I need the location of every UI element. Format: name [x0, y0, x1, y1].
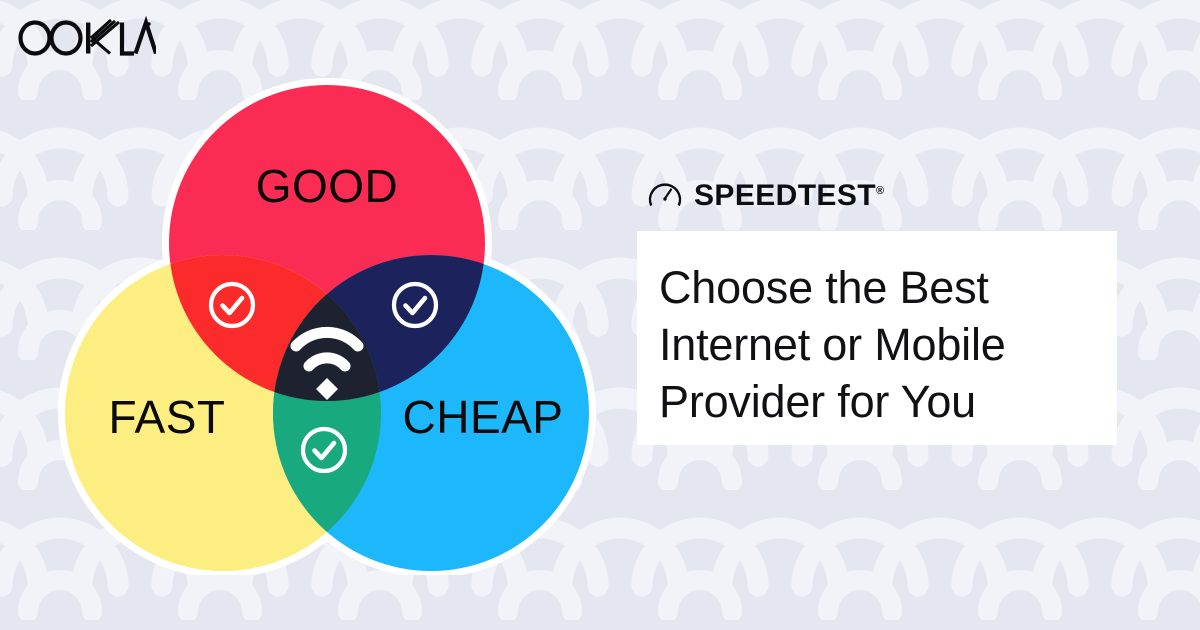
ookla-logo [16, 16, 156, 60]
speedtest-wordmark-text: SPEEDTEST [694, 179, 876, 212]
headline-line-1: Choose the Best [659, 259, 1087, 316]
poster-canvas: GOOD FAST CHEAP [0, 0, 1200, 630]
venn-label-cheap: CHEAP [403, 391, 564, 443]
headline-line-3: Provider for You [659, 373, 1087, 430]
headline-card: Choose the Best Internet or Mobile Provi… [637, 231, 1117, 445]
speedometer-icon [648, 179, 682, 213]
venn-diagram: GOOD FAST CHEAP [55, 65, 600, 575]
speedtest-logo: SPEEDTEST® [648, 176, 884, 216]
headline-line-2: Internet or Mobile [659, 316, 1087, 373]
speedtest-wordmark: SPEEDTEST® [694, 181, 884, 211]
venn-label-good: GOOD [256, 160, 399, 212]
page-title: Choose the Best Internet or Mobile Provi… [659, 259, 1087, 430]
registered-trademark-symbol: ® [876, 185, 884, 197]
venn-label-fast: FAST [108, 391, 225, 443]
